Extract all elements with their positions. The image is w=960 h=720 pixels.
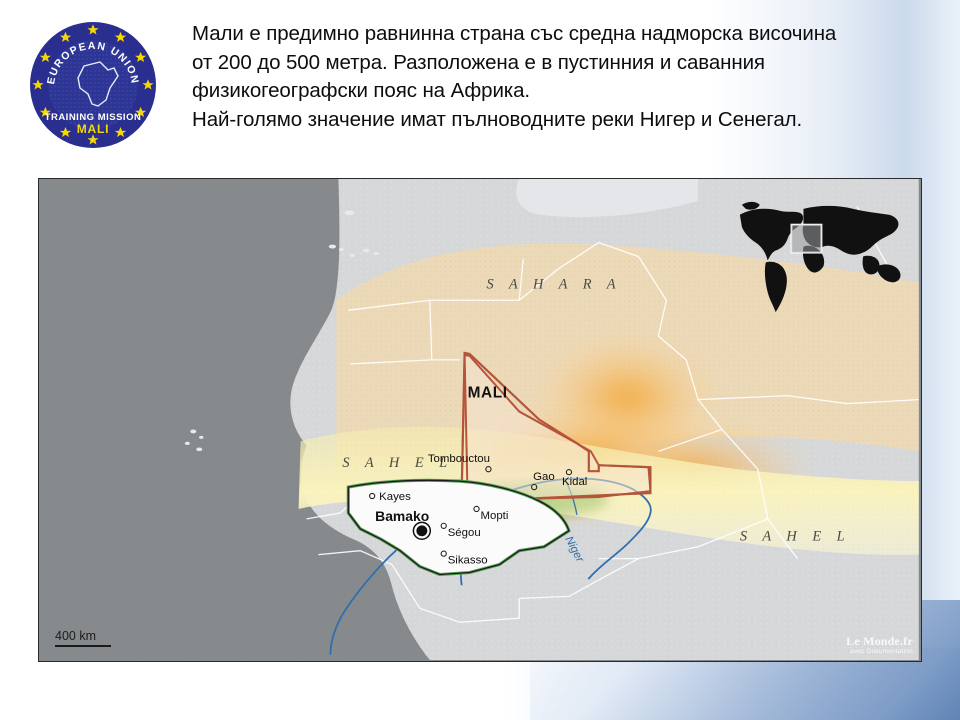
region-label-sahel-east: S A H E L [740, 529, 851, 545]
slide-root: EUROPEAN UNION TRAINING MISSION MALI Мал… [0, 0, 960, 720]
city-dot-bamako-capital [416, 525, 427, 536]
region-label-sahara: S A H A R A [486, 276, 621, 292]
map-scale-rule [55, 645, 111, 647]
map-credit: Le Monde.fr avec Dokumentation [846, 634, 913, 655]
country-label-mali: MALI [468, 385, 508, 402]
description-line-1: Мали е предимно равнинна страна със сред… [192, 20, 922, 49]
city-label-gao: Gao [533, 471, 555, 483]
description-line-4: Най-голямо значение имат пълноводните ре… [192, 106, 922, 135]
mali-physical-map: S A H A R A S A H E L S A H E L MALI Nig… [38, 178, 922, 662]
description-text-block: Мали е предимно равнинна страна със сред… [192, 20, 922, 134]
map-credit-brand: Le Monde.fr [846, 634, 913, 649]
description-line-2: от 200 до 500 метра. Разположена е в пус… [192, 49, 922, 78]
city-label-bamako: Bamako [375, 508, 429, 524]
city-label-sikasso: Sikasso [448, 555, 488, 567]
city-label-mopti: Mopti [480, 510, 508, 522]
city-label-segou: Ségou [448, 527, 481, 539]
eu-training-mission-mali-emblem: EUROPEAN UNION TRAINING MISSION MALI [22, 14, 164, 156]
logo-line2: MALI [77, 122, 110, 136]
city-label-kayes: Kayes [379, 491, 411, 503]
map-canvas: S A H A R A S A H E L S A H E L MALI Nig… [39, 179, 920, 660]
map-credit-sub: avec Dokumentation [846, 648, 913, 655]
city-label-kidal: Kidal [562, 476, 587, 488]
city-label-tombouctou: Tombouctou [428, 453, 490, 465]
map-scale-label: 400 km [55, 629, 96, 643]
description-line-3: физикогеографски пояс на Африка. [192, 77, 922, 106]
map-scale-bar: 400 km [55, 629, 111, 647]
